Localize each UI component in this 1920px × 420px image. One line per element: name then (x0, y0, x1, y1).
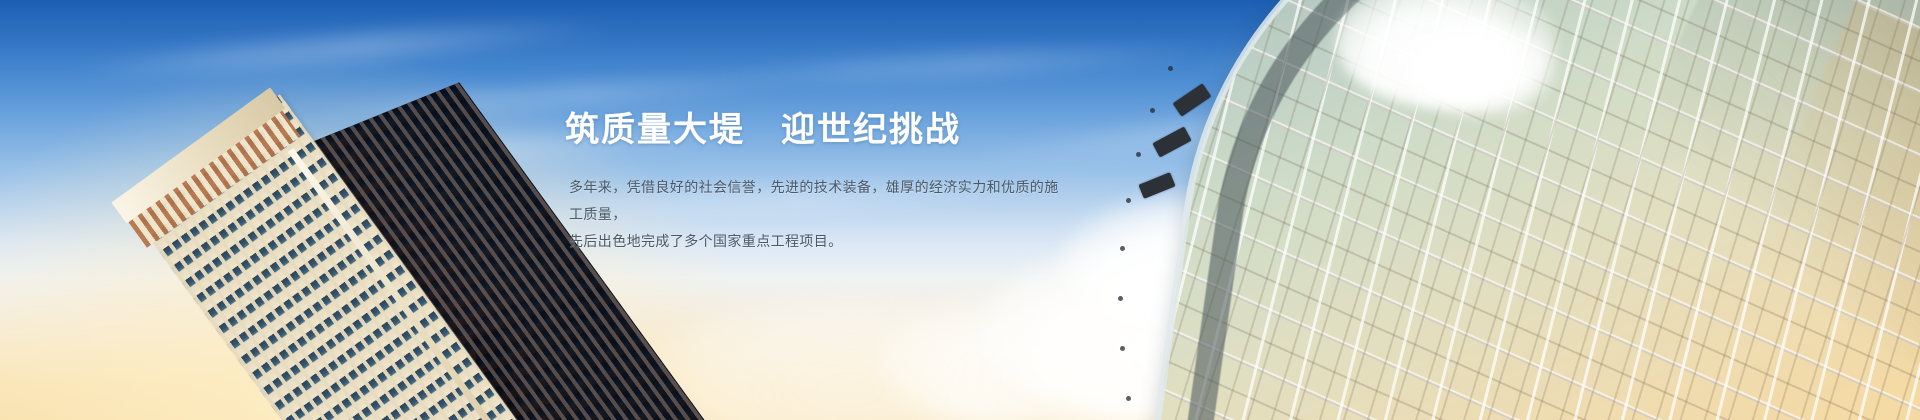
facade-stud (1136, 152, 1141, 157)
banner-headline: 筑质量大堤 迎世纪挑战 (565, 108, 1085, 152)
facade-stud (1120, 246, 1125, 251)
facade-stud (1120, 346, 1125, 351)
facade-stud (1168, 66, 1173, 71)
facade-stud (1118, 296, 1123, 301)
banner-subtitle: 多年来，凭借良好的社会信誉，先进的技术装备，雄厚的经济实力和优质的施工质量， 先… (569, 174, 1069, 255)
facade-stud (1126, 198, 1131, 203)
banner-subtitle-line-2: 先后出色地完成了多个国家重点工程项目。 (569, 228, 1069, 255)
hero-banner: 筑质量大堤 迎世纪挑战 多年来，凭借良好的社会信誉，先进的技术装备，雄厚的经济实… (0, 0, 1920, 420)
banner-subtitle-line-1: 多年来，凭借良好的社会信誉，先进的技术装备，雄厚的经济实力和优质的施工质量， (569, 174, 1069, 228)
banner-text-block: 筑质量大堤 迎世纪挑战 多年来，凭借良好的社会信誉，先进的技术装备，雄厚的经济实… (565, 108, 1085, 255)
facade-stud (1150, 108, 1155, 113)
facade-stud (1126, 396, 1131, 401)
